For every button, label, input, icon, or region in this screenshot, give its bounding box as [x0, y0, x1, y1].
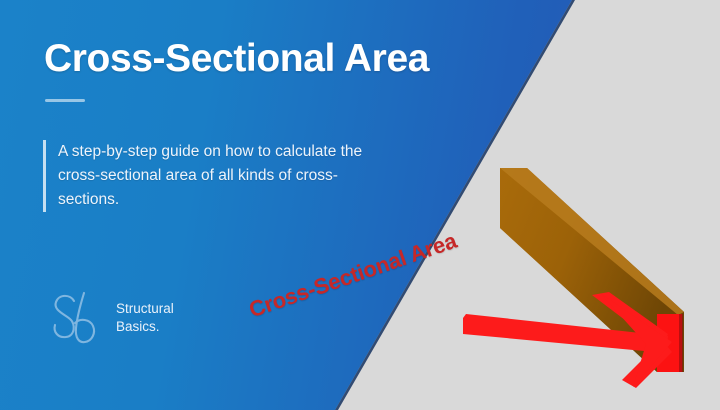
sb-monogram-icon	[50, 288, 106, 348]
brand-logo: Structural Basics.	[50, 288, 174, 348]
brand-line-1: Structural	[116, 300, 174, 318]
subtitle-text: A step-by-step guide on how to calculate…	[58, 140, 373, 212]
brand-name: Structural Basics.	[116, 300, 174, 336]
page-title: Cross-Sectional Area	[44, 38, 504, 81]
slide-canvas: Cross-Sectional Area Cross-Sectional Are…	[0, 0, 720, 410]
subtitle-block: A step-by-step guide on how to calculate…	[43, 140, 373, 212]
brand-line-2: Basics.	[116, 318, 174, 336]
title-underline-accent	[45, 99, 85, 102]
